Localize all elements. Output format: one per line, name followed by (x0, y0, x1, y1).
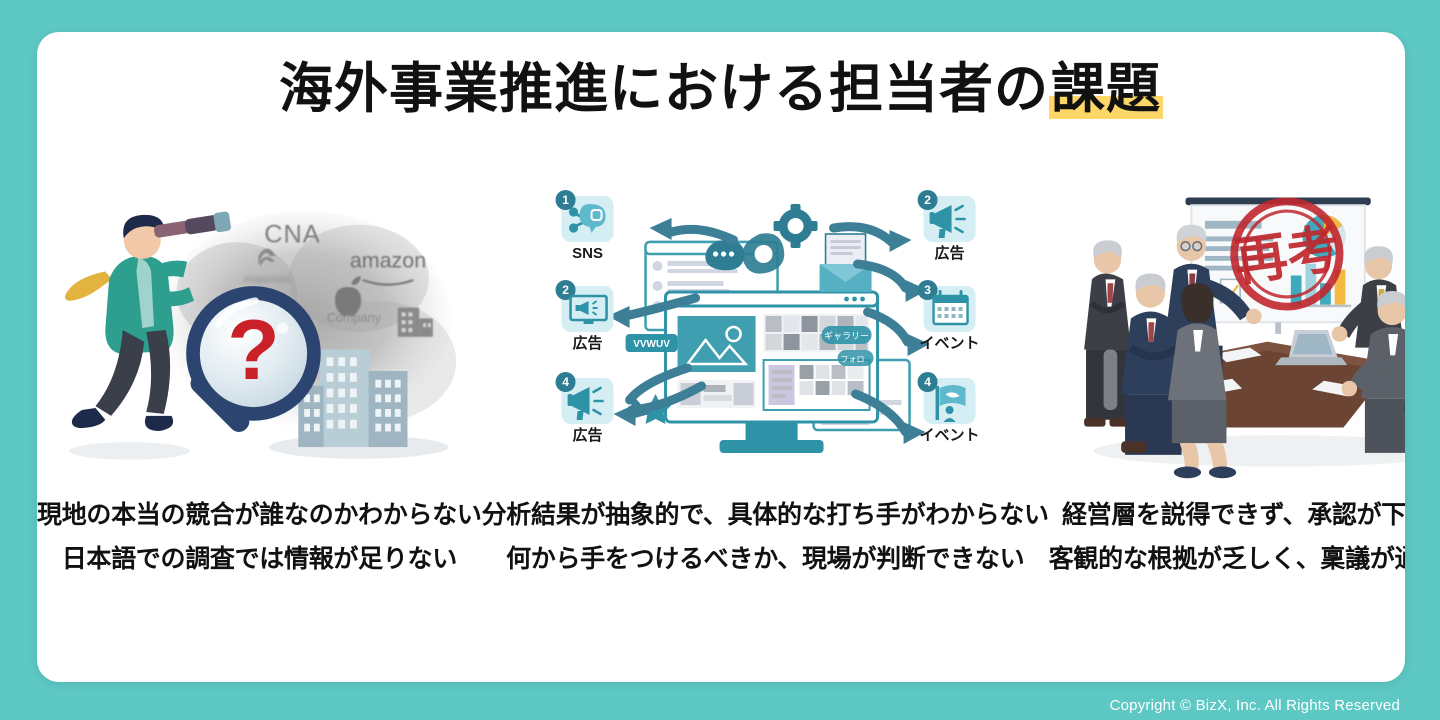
page-title-wrap: 海外事業推進における担当者の課題 (37, 60, 1405, 119)
caption-line-2: 何から手をつけるべきか、現場が判断できない (482, 538, 1049, 582)
panel-caption: 現地の本当の競合が誰なのかわからない 日本語での調査では情報が足りない (37, 494, 482, 582)
badge-label: イベント (919, 427, 979, 444)
badge-number: 2 (924, 193, 931, 207)
panel-approval: 再考 経営層を説得できず、承認が下りない 客観的な根拠が乏しく、稟議が通らない (1049, 182, 1405, 642)
badge-label: 広告 (572, 334, 602, 352)
panel-research: CNA amazon Company material (37, 182, 482, 642)
badge-event-flag: 4 イベント (917, 372, 979, 444)
badge-sns: 1 SNS (555, 190, 613, 262)
svg-text:ギャラリー: ギャラリー (824, 331, 869, 341)
badge-event-calendar: 3 イベント (917, 280, 979, 352)
badge-ad-monitor: 2 広告 (555, 280, 613, 352)
badge-number: 3 (924, 283, 931, 297)
panel-caption: 分析結果が抽象的で、具体的な打ち手がわからない 何から手をつけるべきか、現場が判… (482, 494, 1049, 582)
svg-text:materials: materials (243, 273, 291, 286)
badge-number: 2 (562, 283, 569, 297)
badge-label: イベント (919, 335, 979, 352)
page-title-highlight: 課題 (1049, 59, 1163, 119)
panels-row: CNA amazon Company material (37, 182, 1405, 642)
slide-card: 海外事業推進における担当者の課題 (37, 32, 1405, 682)
marketing-channel-diagram-illustration: ギャラリー フォロ VVWUV (482, 182, 1049, 482)
calendar-icon (933, 290, 967, 324)
svg-text:フォロ: フォロ (840, 355, 864, 364)
svg-text:Company: Company (327, 311, 382, 325)
man-with-telescope-and-magnifier-illustration: CNA amazon Company material (37, 182, 482, 482)
caption-line-1: 現地の本当の競合が誰なのかわからない (37, 501, 482, 529)
caption-line-2: 日本語での調査では情報が足りない (37, 538, 482, 582)
caption-line-2: 客観的な根拠が乏しく、稟議が通らない (1049, 538, 1405, 582)
caption-line-1: 分析結果が抽象的で、具体的な打ち手がわからない (482, 501, 1049, 529)
badge-ad-megaphone-right: 2 広告 (917, 190, 975, 262)
panel-analysis: ギャラリー フォロ VVWUV (482, 182, 1049, 642)
badge-number: 4 (924, 375, 931, 389)
svg-text:amazon: amazon (350, 249, 426, 273)
slide-root: 海外事業推進における担当者の課題 (0, 0, 1440, 720)
panel-caption: 経営層を説得できず、承認が下りない 客観的な根拠が乏しく、稟議が通らない (1049, 494, 1405, 582)
page-title: 海外事業推進における担当者の課題 (279, 60, 1163, 119)
badge-label: 広告 (572, 426, 602, 444)
boardroom-meeting-rejected-illustration: 再考 (1049, 182, 1405, 482)
svg-text:VVWUV: VVWUV (633, 339, 670, 350)
blurred-wordmark: materials (243, 273, 291, 286)
caption-line-1: 経営層を説得できず、承認が下りない (1062, 501, 1405, 529)
badge-ad-megaphone-left: 4 広告 (555, 372, 613, 444)
badge-label: 広告 (934, 244, 964, 262)
copyright-footer: Copyright © BizX, Inc. All Rights Reserv… (1110, 697, 1400, 714)
svg-text:CNA: CNA (264, 220, 320, 248)
badge-number: 4 (562, 375, 569, 389)
page-title-plain: 海外事業推進における担当者の (279, 59, 1049, 119)
question-mark-glyph: ? (227, 302, 279, 398)
badge-number: 1 (562, 193, 569, 207)
badge-label: SNS (572, 245, 603, 262)
